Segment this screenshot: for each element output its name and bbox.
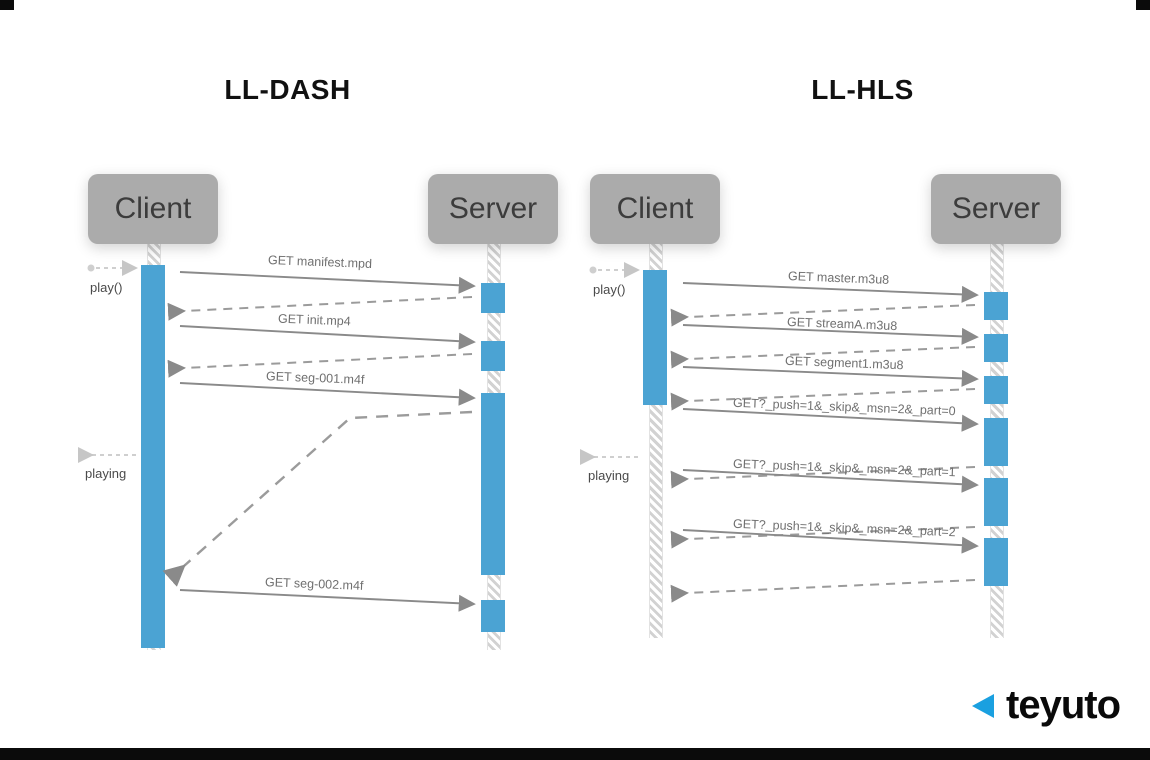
actor-dash-client: Client bbox=[88, 174, 218, 244]
activation-dash-server-1 bbox=[481, 283, 505, 313]
side-label-hls-playing: playing bbox=[588, 468, 629, 483]
actor-dash-server: Server bbox=[428, 174, 558, 244]
actor-label: Client bbox=[617, 192, 694, 226]
activation-dash-server-4 bbox=[481, 600, 505, 632]
left-triangle-icon bbox=[968, 686, 998, 726]
diagram-canvas: LL-DASH Client Server LL-HLS Client Serv… bbox=[0, 0, 1150, 760]
frame-bottom-bar bbox=[0, 748, 1150, 760]
actor-hls-client: Client bbox=[590, 174, 720, 244]
msg-label-dash-2: GET init.mp4 bbox=[278, 312, 351, 329]
activation-dash-client bbox=[141, 265, 165, 648]
panel-title-ll-hls: LL-HLS bbox=[575, 74, 1150, 106]
logo-wordmark: teyuto bbox=[1006, 683, 1120, 728]
activation-hls-client bbox=[643, 270, 667, 405]
side-label-dash-play: play() bbox=[90, 280, 123, 295]
activation-dash-server-2 bbox=[481, 341, 505, 371]
activation-dash-server-3 bbox=[481, 393, 505, 575]
actor-hls-server: Server bbox=[931, 174, 1061, 244]
actor-label: Server bbox=[952, 192, 1040, 226]
actor-label: Client bbox=[115, 192, 192, 226]
activation-hls-server-3 bbox=[984, 376, 1008, 404]
activation-hls-server-6 bbox=[984, 538, 1008, 586]
activation-hls-server-4 bbox=[984, 418, 1008, 466]
side-label-dash-playing: playing bbox=[85, 466, 126, 481]
actor-label: Server bbox=[449, 192, 537, 226]
panel-title-ll-dash: LL-DASH bbox=[0, 74, 575, 106]
activation-hls-server-1 bbox=[984, 292, 1008, 320]
teyuto-logo: teyuto bbox=[968, 683, 1120, 728]
activation-hls-server-2 bbox=[984, 334, 1008, 362]
side-label-hls-play: play() bbox=[593, 282, 626, 297]
activation-hls-server-5 bbox=[984, 478, 1008, 526]
